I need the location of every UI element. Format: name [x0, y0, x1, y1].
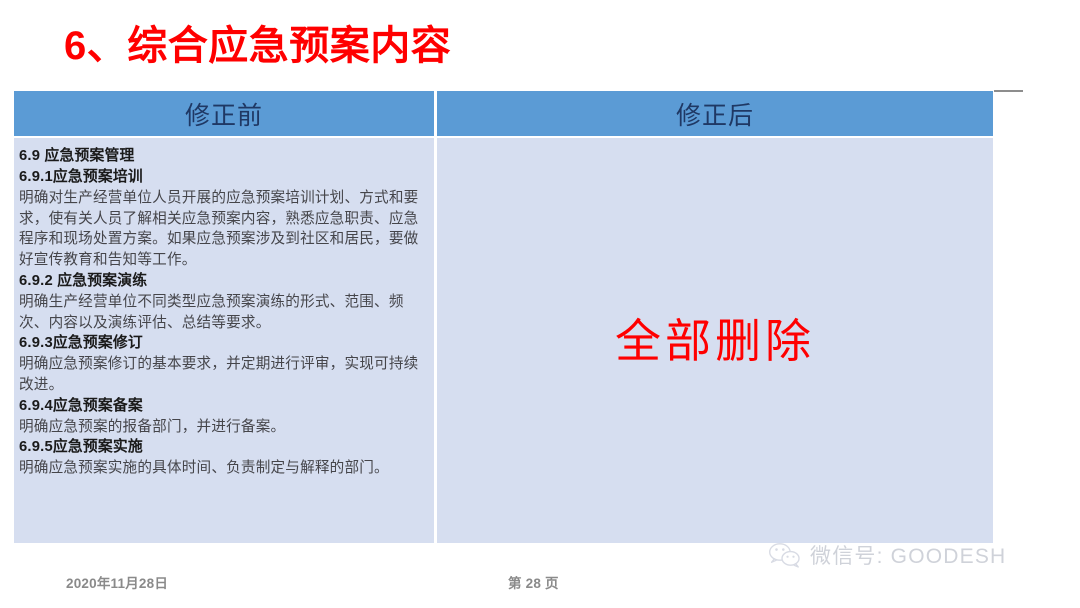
text-block: 6.9.3应急预案修订	[19, 333, 426, 354]
footer-date: 2020年11月28日	[66, 572, 168, 592]
cell-after-content: 全部删除	[437, 138, 993, 543]
page-title: 6、综合应急预案内容	[64, 22, 451, 70]
wechat-watermark: 微信号: GOODESH	[768, 540, 1006, 570]
text-block: 6.9.1应急预案培训	[19, 167, 426, 188]
text-block: 6.9.4应急预案备案	[19, 396, 426, 417]
table-header-row: 修正前 修正后	[14, 91, 993, 136]
top-divider-rule	[994, 90, 1023, 92]
column-header-before: 修正前	[14, 91, 434, 136]
wechat-icon	[768, 541, 802, 569]
text-block: 明确应急预案的报备部门，并进行备案。	[19, 417, 426, 438]
delete-all-label: 全部删除	[615, 305, 815, 371]
text-block: 6.9.2 应急预案演练	[19, 271, 426, 292]
text-block: 明确对生产经营单位人员开展的应急预案培训计划、方式和要求，使有关人员了解相关应急…	[19, 188, 426, 271]
text-block: 明确应急预案实施的具体时间、负责制定与解释的部门。	[19, 458, 426, 479]
text-block: 6.9.5应急预案实施	[19, 437, 426, 458]
table-body-row: 6.9 应急预案管理 6.9.1应急预案培训 明确对生产经营单位人员开展的应急预…	[14, 138, 993, 543]
text-block: 6.9 应急预案管理	[19, 146, 426, 167]
wechat-watermark-text: 微信号: GOODESH	[810, 540, 1006, 570]
slide-canvas: 6、综合应急预案内容 修正前 修正后 6.9 应急预案管理 6.9.1应急预案培…	[0, 0, 1080, 608]
text-block: 明确生产经营单位不同类型应急预案演练的形式、范围、频次、内容以及演练评估、总结等…	[19, 292, 426, 333]
text-block: 明确应急预案修订的基本要求，并定期进行评审，实现可持续改进。	[19, 354, 426, 395]
footer-page-number: 第 28 页	[508, 572, 559, 592]
cell-before-content: 6.9 应急预案管理 6.9.1应急预案培训 明确对生产经营单位人员开展的应急预…	[14, 138, 434, 543]
comparison-table: 修正前 修正后 6.9 应急预案管理 6.9.1应急预案培训 明确对生产经营单位…	[14, 91, 993, 543]
column-header-after: 修正后	[437, 91, 993, 136]
